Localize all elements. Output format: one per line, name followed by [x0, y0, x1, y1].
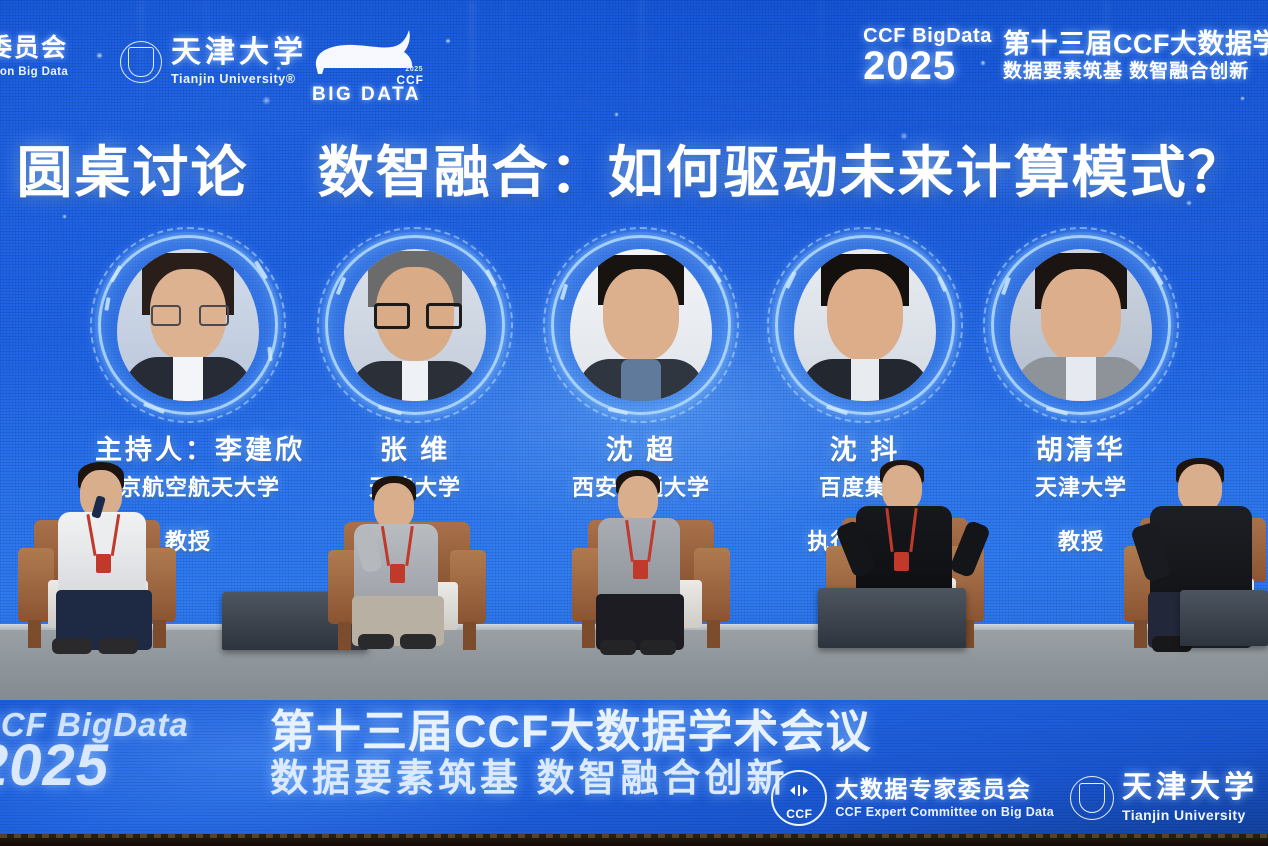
seated-panelist	[40, 462, 170, 652]
banner-title-line1: 第十三届CCF大数据学术会议	[270, 708, 871, 755]
expert-committee-cn: 家委员会	[0, 36, 68, 61]
portrait-frame	[988, 232, 1174, 418]
seated-panelist	[340, 476, 470, 656]
ccf-expert-committee-logo-bottom: CCF 大数据专家委员会 CCF Expert Committee on Big…	[771, 770, 1054, 826]
stage-monitor-speaker	[818, 588, 966, 648]
stage-front-banner: CCF BigData 2025 第十三届CCF大数据学术会议 数据要素筑基 数…	[0, 700, 1268, 834]
panelist-name: 张 维	[322, 428, 508, 467]
portrait-photo	[794, 249, 936, 401]
conf-mark-top: CCF BigData	[863, 26, 992, 46]
stage-apron-lip	[0, 834, 1268, 846]
tianjin-university-logo-bottom: 天津大学 Tianjin University	[1070, 773, 1258, 823]
banner-conference-mark: CCF BigData 2025	[0, 708, 189, 792]
org2-cn: 天津大学	[1122, 773, 1258, 803]
ccf-bigdata-whale-logo: 2025 CCF BIG DATA	[310, 28, 430, 106]
session-title-topic: 数智融合：如何驱动未来计算模式？	[318, 141, 1246, 204]
panelist-name: 沈 超	[548, 428, 734, 467]
portrait-photo	[344, 249, 486, 401]
portrait-frame	[548, 232, 734, 418]
conf-year-top: 2025	[863, 47, 992, 85]
portrait-frame	[772, 232, 958, 418]
org1-cn: 大数据专家委员会	[835, 778, 1054, 801]
tianjin-seal-icon	[120, 41, 162, 83]
portrait-photo	[1010, 249, 1152, 401]
expert-committee-en: mittee on Big Data	[0, 66, 68, 78]
conf-title-top: 第十三届CCF大数据学	[1003, 30, 1268, 58]
ccf-expert-committee-logo: 家委员会 mittee on Big Data	[0, 36, 68, 78]
conference-lockup-top-right: CCF BigData 2025 第十三届CCF大数据学 数据要素筑基 数智融合…	[863, 26, 1268, 85]
tianjin-en-top: Tianjin University®	[171, 72, 307, 86]
portrait-frame	[95, 232, 281, 418]
panelist-portrait-row: 主持人：李建欣 北京航空航天大学 教授	[0, 232, 1268, 462]
panelist-card: 胡清华 天津大学 教授	[988, 232, 1174, 418]
portrait-photo	[117, 249, 259, 401]
tianjin-cn-top: 天津大学	[171, 38, 307, 68]
whale-logo-year: 2025	[405, 66, 423, 73]
backdrop-top-logo-bar: 家委员会 mittee on Big Data 天津大学 Tianjin Uni…	[0, 0, 1268, 120]
seated-panelist	[582, 470, 712, 656]
panelist-card: 沈 超 西安交通大学	[548, 232, 734, 418]
stage-monitor-speaker	[1180, 590, 1268, 646]
tianjin-university-logo-top: 天津大学 Tianjin University®	[120, 38, 307, 86]
portrait-photo	[570, 249, 712, 401]
tianjin-seal-icon-bottom	[1070, 776, 1114, 820]
org2-en: Tianjin University	[1122, 807, 1258, 823]
panelist-card: 主持人：李建欣 北京航空航天大学 教授	[95, 232, 281, 418]
panelist-card: 张 维 天津大学 教授	[322, 232, 508, 418]
banner-organizer-logos: CCF 大数据专家委员会 CCF Expert Committee on Big…	[771, 770, 1258, 826]
org1-en: CCF Expert Committee on Big Data	[835, 805, 1054, 819]
ccf-seal-icon: CCF	[771, 770, 827, 826]
portrait-frame	[322, 232, 508, 418]
session-title-label: 圆桌讨论	[16, 141, 248, 204]
session-title: 圆桌讨论 数智融合：如何驱动未来计算模式？	[0, 128, 1268, 209]
whale-logo-text: BIG DATA	[312, 85, 421, 104]
conference-stage-photo: 家委员会 mittee on Big Data 天津大学 Tianjin Uni…	[0, 0, 1268, 846]
conf-slogan-top: 数据要素筑基 数智融合创新	[1003, 62, 1268, 83]
ccf-emblem-icon	[788, 783, 810, 798]
panelist-card: 沈 抖 百度集团 执行副总裁	[772, 232, 958, 418]
banner-year: 2025	[0, 739, 189, 792]
ccf-seal-label: CCF	[773, 807, 825, 821]
